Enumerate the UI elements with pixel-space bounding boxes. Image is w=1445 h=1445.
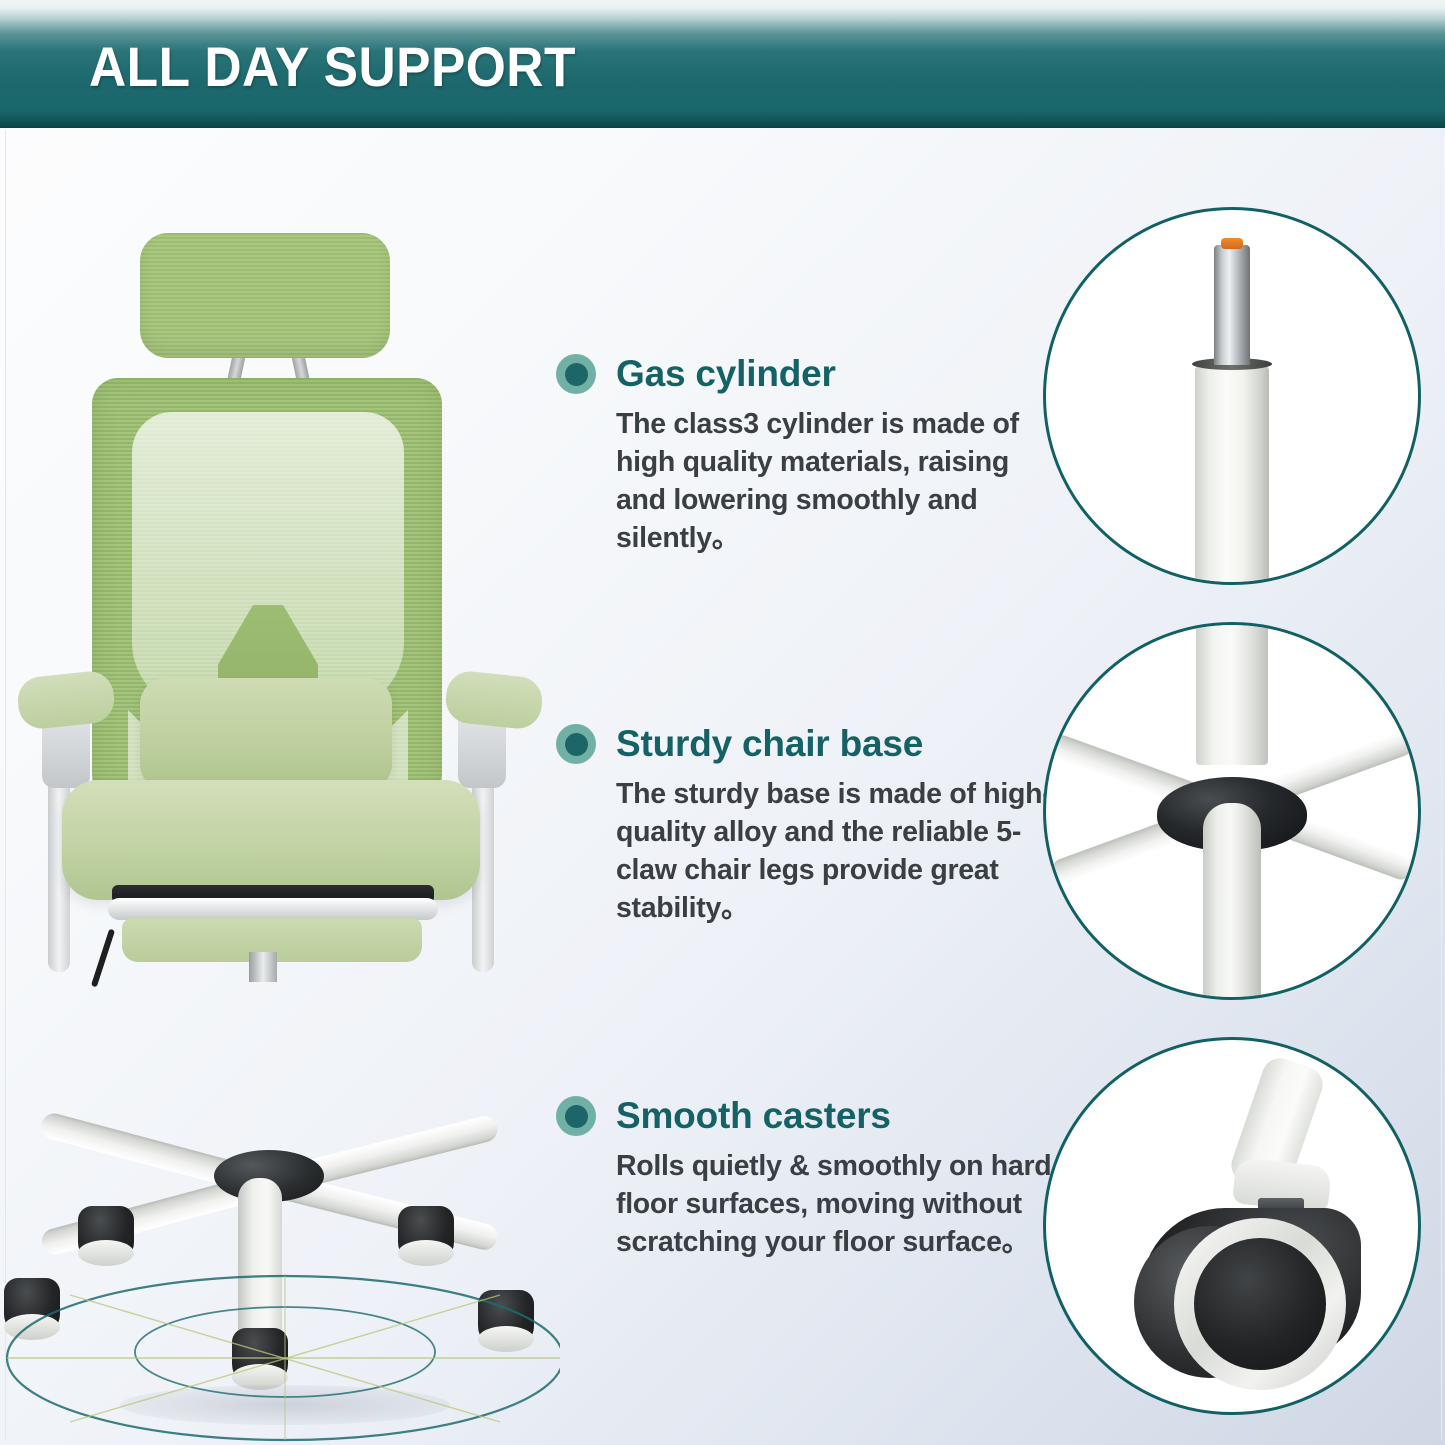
feature-title: Gas cylinder: [616, 353, 836, 395]
feature-heading-row: Sturdy chair base: [556, 722, 1056, 766]
headrest: [140, 233, 390, 358]
product-chair-illustration: [0, 150, 560, 1300]
header-banner: ALL DAY SUPPORT: [0, 0, 1445, 128]
cylinder-orange-tip: [1221, 238, 1243, 249]
feature-block-gas-cylinder: Gas cylinder The class3 cylinder is made…: [556, 352, 1056, 557]
rotation-radius-rings: [0, 1240, 560, 1445]
feature-description: The class3 cylinder is made of high qual…: [616, 405, 1066, 557]
cylinder-tube: [1195, 365, 1269, 582]
height-adjust-lever: [91, 929, 115, 988]
detail-circle-gas-cylinder: [1043, 207, 1421, 585]
cylinder-piston-rod: [1214, 245, 1250, 365]
feature-title: Smooth casters: [616, 1095, 891, 1137]
filled-circle-icon: [556, 1096, 596, 1136]
feature-title: Sturdy chair base: [616, 723, 923, 765]
caster-wheel-photo: [1046, 1040, 1418, 1412]
footrest-bar: [108, 898, 438, 920]
detail-circle-chair-base: [1043, 622, 1421, 1000]
filled-circle-icon: [556, 354, 596, 394]
infographic-page: ALL DAY SUPPORT: [0, 0, 1445, 1445]
lumbar-pillow: [140, 678, 392, 790]
base-lower-column: [1203, 803, 1261, 997]
feature-heading-row: Smooth casters: [556, 1094, 1056, 1138]
page-title: ALL DAY SUPPORT: [89, 34, 576, 99]
feature-block-chair-base: Sturdy chair base The sturdy base is mad…: [556, 722, 1056, 927]
caster-wheel-hub: [1194, 1238, 1326, 1370]
feature-block-smooth-casters: Smooth casters Rolls quietly & smoothly …: [556, 1094, 1056, 1261]
seat-cushion: [62, 780, 480, 900]
filled-circle-icon: [556, 724, 596, 764]
detail-circle-caster: [1043, 1037, 1421, 1415]
gas-cylinder-photo: [1046, 210, 1418, 582]
feature-description: Rolls quietly & smoothly on hard floor s…: [616, 1147, 1066, 1261]
gas-cylinder-column: [240, 976, 286, 1166]
feature-description: The sturdy base is made of high-quality …: [616, 775, 1066, 927]
base-upper-column: [1196, 625, 1268, 765]
chair-base-photo: [1046, 625, 1418, 997]
feature-heading-row: Gas cylinder: [556, 352, 1056, 396]
